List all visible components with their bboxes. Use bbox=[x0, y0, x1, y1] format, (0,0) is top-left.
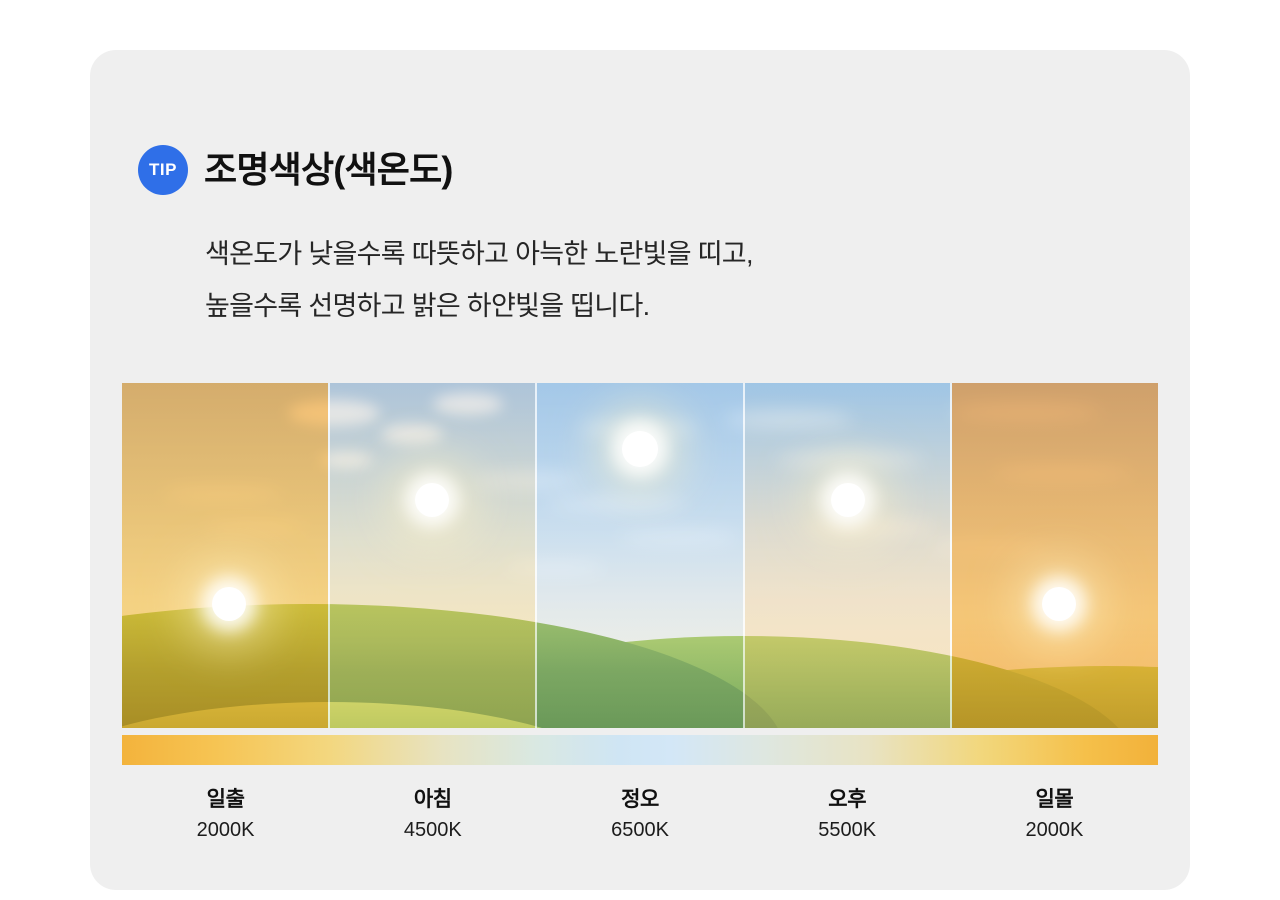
label-temperature: 5500K bbox=[744, 815, 951, 845]
panel-noon[interactable] bbox=[537, 383, 745, 728]
label-temperature: 2000K bbox=[951, 815, 1158, 845]
color-temperature-image-strip bbox=[122, 383, 1158, 728]
label-column: 정오 6500K bbox=[536, 785, 743, 845]
label-temperature: 4500K bbox=[329, 815, 536, 845]
panel-sunset[interactable] bbox=[952, 383, 1158, 728]
panel-sunrise[interactable] bbox=[122, 383, 330, 728]
card-header: TIP 조명색상(색온도) bbox=[138, 145, 453, 195]
label-name: 일출 bbox=[122, 785, 329, 815]
sun-icon bbox=[622, 431, 658, 467]
color-temperature-scale-bar bbox=[122, 735, 1158, 765]
label-name: 정오 bbox=[536, 785, 743, 815]
label-column: 오후 5500K bbox=[744, 785, 951, 845]
label-name: 아침 bbox=[329, 785, 536, 815]
description-line-2: 높을수록 선명하고 밝은 하얀빛을 띱니다. bbox=[205, 280, 753, 332]
label-temperature: 6500K bbox=[536, 815, 743, 845]
panel-tint bbox=[330, 383, 536, 728]
sun-icon bbox=[831, 483, 865, 517]
label-name: 일몰 bbox=[951, 785, 1158, 815]
color-temperature-labels: 일출 2000K 아침 4500K 정오 6500K 오후 5500K 일몰 2… bbox=[122, 785, 1158, 845]
panel-afternoon[interactable] bbox=[745, 383, 953, 728]
tip-card: TIP 조명색상(색온도) 색온도가 낮을수록 따뜻하고 아늑한 노란빛을 띠고… bbox=[90, 50, 1190, 890]
sun-icon bbox=[212, 587, 246, 621]
filter-panels bbox=[122, 383, 1158, 728]
tip-badge: TIP bbox=[138, 145, 188, 195]
label-name: 오후 bbox=[744, 785, 951, 815]
description-text: 색온도가 낮을수록 따뜻하고 아늑한 노란빛을 띠고, 높을수록 선명하고 밝은… bbox=[205, 228, 753, 332]
panel-morning[interactable] bbox=[330, 383, 538, 728]
panel-tint bbox=[952, 383, 1158, 728]
sun-icon bbox=[1042, 587, 1076, 621]
label-column: 일출 2000K bbox=[122, 785, 329, 845]
label-column: 일몰 2000K bbox=[951, 785, 1158, 845]
label-column: 아침 4500K bbox=[329, 785, 536, 845]
panel-tint bbox=[745, 383, 951, 728]
label-temperature: 2000K bbox=[122, 815, 329, 845]
description-line-1: 색온도가 낮을수록 따뜻하고 아늑한 노란빛을 띠고, bbox=[205, 228, 753, 280]
panel-tint bbox=[122, 383, 328, 728]
page-title: 조명색상(색온도) bbox=[204, 152, 453, 188]
